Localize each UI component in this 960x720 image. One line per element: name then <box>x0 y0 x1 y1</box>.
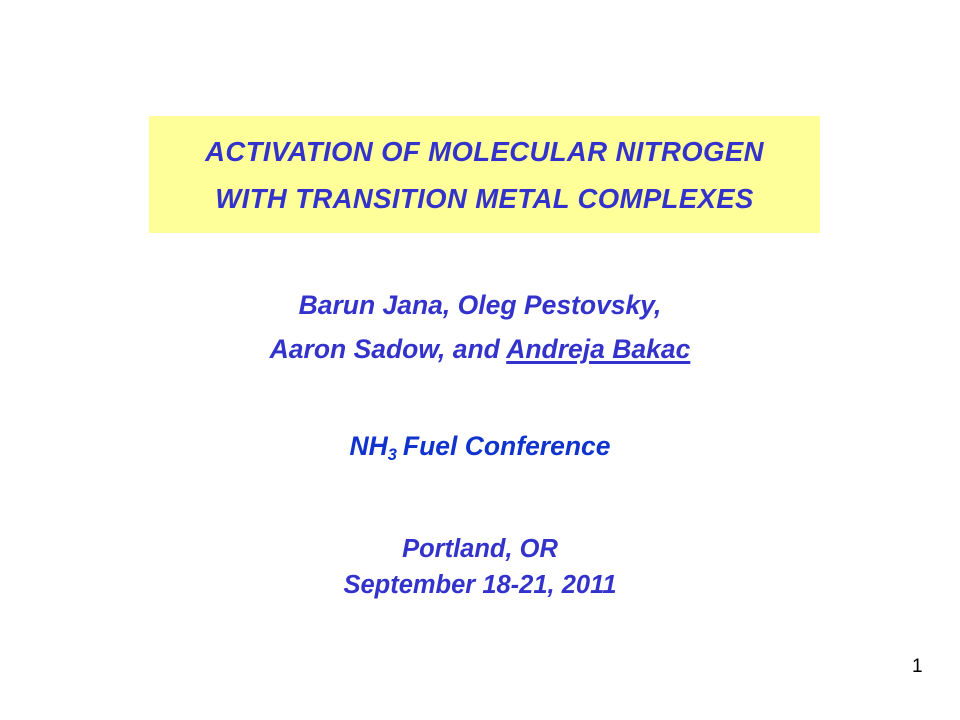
title-line-2: WITH TRANSITION METAL COMPLEXES <box>215 175 753 222</box>
conference-name-text: Fuel Conference <box>403 431 611 461</box>
ammonia-formula: NH3 <box>349 431 396 461</box>
venue-location: Portland, OR <box>0 531 960 567</box>
author-list: Barun Jana, Oleg Pestovsky, Aaron Sadow,… <box>0 283 960 371</box>
conference-name: NH3Fuel Conference <box>0 428 960 468</box>
title-line-1: ACTIVATION OF MOLECULAR NITROGEN <box>205 128 764 175</box>
presentation-slide: ACTIVATION OF MOLECULAR NITROGEN WITH TR… <box>0 0 960 720</box>
ammonia-formula-prefix: NH <box>349 431 387 461</box>
venue-dates: September 18-21, 2011 <box>0 567 960 603</box>
author-line-2: Aaron Sadow, and Andreja Bakac <box>0 327 960 371</box>
author-line-2-prefix: Aaron Sadow, and <box>270 334 507 364</box>
presenting-author-name: Andreja Bakac <box>506 334 690 364</box>
ammonia-formula-subscript: 3 <box>388 446 397 464</box>
title-highlight-box: ACTIVATION OF MOLECULAR NITROGEN WITH TR… <box>149 116 820 233</box>
venue-block: Portland, OR September 18-21, 2011 <box>0 531 960 603</box>
author-line-1: Barun Jana, Oleg Pestovsky, <box>0 283 960 327</box>
slide-number: 1 <box>912 656 923 678</box>
